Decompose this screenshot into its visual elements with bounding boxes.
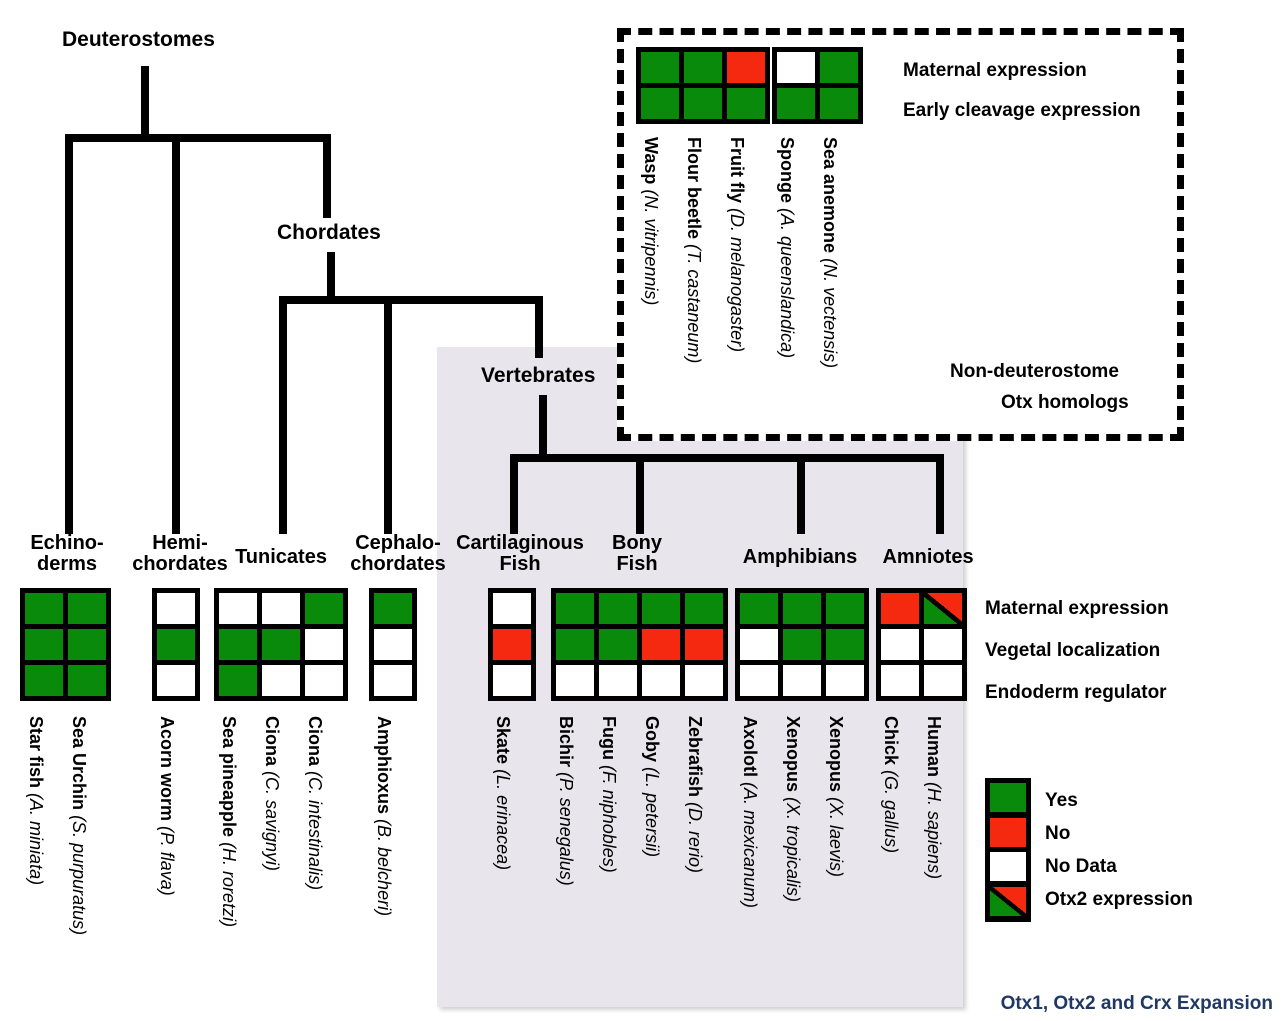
tree-line-cephalochordates bbox=[384, 296, 392, 534]
clade-label-vertebrates: Vertebrates bbox=[481, 364, 595, 388]
expression-grid-hemichordates bbox=[152, 588, 200, 701]
tree-line-cartilaginous-fish bbox=[510, 454, 518, 534]
expression-cell bbox=[157, 593, 195, 624]
clade-label-chordates: Chordates bbox=[277, 221, 381, 245]
dashed-box-title-line2: Otx homologs bbox=[1001, 392, 1129, 414]
expression-grid-bony-fish bbox=[551, 588, 728, 701]
expression-cell bbox=[305, 629, 343, 660]
group-label-amphibians: Amphibians bbox=[726, 547, 874, 568]
expression-cell bbox=[262, 629, 300, 660]
tree-line-vertebrates-stem bbox=[539, 395, 547, 458]
expression-cell bbox=[777, 52, 815, 83]
species-label-sponge: Sponge (A. queenslandica) bbox=[776, 137, 797, 358]
species-label-skate: Skate (L. erinacea) bbox=[492, 716, 513, 870]
tree-line-bony-fish bbox=[636, 454, 644, 534]
expression-cell bbox=[599, 665, 637, 696]
expression-grid-amniotes bbox=[876, 588, 967, 701]
expression-cell bbox=[556, 665, 594, 696]
expression-cell bbox=[68, 629, 106, 660]
species-label-chick: Chick (G. gallus) bbox=[880, 716, 901, 853]
expression-cell bbox=[25, 665, 63, 696]
legend-key-label: Otx2 expression bbox=[1045, 883, 1193, 916]
expression-cell bbox=[262, 593, 300, 624]
expression-cell bbox=[924, 665, 962, 696]
expression-cell bbox=[740, 629, 778, 660]
expression-grid-cephalochordates bbox=[369, 588, 417, 701]
legend-swatch-yes bbox=[990, 783, 1026, 812]
group-label-bony-fish: Bony Fish bbox=[593, 533, 681, 575]
tree-line-chordates-bar bbox=[279, 296, 543, 304]
legend-swatch-split bbox=[990, 887, 1026, 916]
species-label-star-fish: Star fish (A. miniata) bbox=[25, 716, 46, 885]
tree-line-amphibians bbox=[797, 454, 805, 534]
species-label-acorn-worm: Acorn worm (P. flava) bbox=[156, 716, 177, 896]
legend-key-label-column: YesNoNo DataOtx2 expression bbox=[1045, 778, 1193, 922]
tree-line-chordates-stem bbox=[327, 252, 335, 300]
expression-cell bbox=[783, 629, 821, 660]
dashed-box-title-line1: Non-deuterostome bbox=[950, 361, 1119, 383]
expression-grid-tunicates bbox=[214, 588, 348, 701]
expression-cell bbox=[219, 593, 257, 624]
expression-cell bbox=[493, 593, 531, 624]
dashed-row-label-early-cleavage: Early cleavage expression bbox=[903, 100, 1141, 122]
expression-cell bbox=[599, 629, 637, 660]
expression-cell bbox=[68, 665, 106, 696]
expression-cell bbox=[157, 629, 195, 660]
legend-key-label: No Data bbox=[1045, 850, 1193, 883]
expression-cell bbox=[820, 52, 858, 83]
tree-line-to-chordates bbox=[323, 134, 331, 218]
expression-cell bbox=[924, 629, 962, 660]
expression-cell bbox=[374, 665, 412, 696]
expression-cell bbox=[783, 593, 821, 624]
expression-cell bbox=[262, 665, 300, 696]
expression-cell bbox=[684, 88, 722, 119]
species-label-ciona-intestinalis: Ciona (C. intestinalis) bbox=[304, 716, 325, 890]
phylogeny-figure: Deuterostomes Chordates Vertebrates Mate… bbox=[0, 0, 1283, 1021]
expression-cell bbox=[740, 593, 778, 624]
expression-cell bbox=[556, 629, 594, 660]
legend-key: YesNoNo DataOtx2 expression bbox=[985, 778, 1193, 922]
expression-cell bbox=[642, 629, 680, 660]
dashed-row-label-maternal: Maternal expression bbox=[903, 60, 1087, 82]
expression-cell bbox=[374, 629, 412, 660]
expression-cell bbox=[783, 665, 821, 696]
expression-cell bbox=[727, 88, 765, 119]
expression-cell bbox=[642, 593, 680, 624]
expression-cell bbox=[684, 52, 722, 83]
species-label-axolotl: Axolotl (A. mexicanum) bbox=[739, 716, 760, 908]
species-label-flour-beetle: Flour beetle (T. castaneum) bbox=[683, 137, 704, 363]
expression-cell bbox=[777, 88, 815, 119]
expression-cell bbox=[826, 629, 864, 660]
expression-grid-cartilaginous-fish bbox=[488, 588, 536, 701]
expression-cell bbox=[881, 665, 919, 696]
expression-cell bbox=[685, 665, 723, 696]
expression-cell bbox=[219, 629, 257, 660]
expression-grid-echinoderms bbox=[20, 588, 111, 701]
group-label-amniotes: Amniotes bbox=[872, 547, 984, 568]
legend-row-labels: Maternal expression Vegetal localization… bbox=[985, 598, 1169, 724]
species-label-zebrafish: Zebrafish (D. rerio) bbox=[684, 716, 705, 873]
expression-cell bbox=[305, 665, 343, 696]
species-label-fruit-fly: Fruit fly (D. melanogaster) bbox=[726, 137, 747, 352]
expression-cell bbox=[493, 629, 531, 660]
expression-cell bbox=[374, 593, 412, 624]
legend-key-label: Yes bbox=[1045, 784, 1193, 817]
group-label-echinoderms: Echino- derms bbox=[13, 533, 121, 575]
tree-line-deuterostomes-stem bbox=[141, 66, 149, 138]
group-label-cephalochordates: Cephalo- chordates bbox=[340, 533, 456, 575]
expression-cell bbox=[924, 593, 962, 624]
species-label-sea-anemone: Sea anemone (N. vectensis) bbox=[819, 137, 840, 368]
expression-cell bbox=[305, 593, 343, 624]
tree-line-vertebrates-bar bbox=[510, 454, 944, 462]
species-label-ciona-savignyi: Ciona (C. savignyi) bbox=[261, 716, 282, 871]
expression-cell bbox=[556, 593, 594, 624]
legend-label-maternal: Maternal expression bbox=[985, 598, 1169, 620]
legend-key-label: No bbox=[1045, 817, 1193, 850]
expression-cell bbox=[599, 593, 637, 624]
tree-line-tunicates bbox=[279, 296, 287, 534]
species-label-fugu: Fugu (F. niphobles) bbox=[598, 716, 619, 873]
legend-swatch-column bbox=[985, 778, 1031, 922]
expression-cell bbox=[642, 665, 680, 696]
species-label-xenopus-tropicalis: Xenopus (X. tropicalis) bbox=[782, 716, 803, 902]
expression-cell bbox=[881, 629, 919, 660]
group-label-hemichordates: Hemi- chordates bbox=[126, 533, 234, 575]
expression-cell bbox=[25, 593, 63, 624]
group-label-tunicates: Tunicates bbox=[222, 547, 340, 568]
expression-cell bbox=[820, 88, 858, 119]
expression-cell bbox=[219, 665, 257, 696]
species-label-amphioxus: Amphioxus (B. belcheri) bbox=[373, 716, 394, 916]
expression-cell bbox=[641, 88, 679, 119]
tree-line-deuterostomes-bar bbox=[65, 134, 331, 142]
expression-cell bbox=[68, 593, 106, 624]
tree-line-amniotes bbox=[936, 454, 944, 534]
tree-line-hemichordates bbox=[172, 134, 180, 534]
clade-label-deuterostomes: Deuterostomes bbox=[62, 28, 215, 52]
species-label-bichir: Bichir (P. senegalus) bbox=[555, 716, 576, 886]
expression-cell bbox=[25, 629, 63, 660]
legend-label-endoderm: Endoderm regulator bbox=[985, 682, 1169, 704]
expression-cell bbox=[157, 665, 195, 696]
species-label-goby: Goby (L. petersii) bbox=[641, 716, 662, 857]
species-label-xenopus-laevis: Xenopus (X. laevis) bbox=[825, 716, 846, 877]
species-label-sea-pineapple: Sea pineapple (H. roretzi) bbox=[218, 716, 239, 927]
expression-grid-basal-metazoans bbox=[772, 47, 863, 124]
vertebrate-panel-caption: Otx1, Otx2 and Crx Expansion bbox=[1001, 993, 1273, 1015]
expression-cell bbox=[740, 665, 778, 696]
expression-grid-amphibians bbox=[735, 588, 869, 701]
species-label-human: Human (H. sapiens) bbox=[923, 716, 944, 879]
tree-line-echinoderms bbox=[65, 134, 73, 534]
expression-cell bbox=[641, 52, 679, 83]
group-label-cartilaginous-fish: Cartilaginous Fish bbox=[452, 533, 588, 575]
expression-cell bbox=[826, 665, 864, 696]
species-label-wasp: Wasp (N. vitripennis) bbox=[640, 137, 661, 305]
expression-grid-protostomes bbox=[636, 47, 770, 124]
tree-line-to-vertebrates bbox=[535, 296, 543, 358]
expression-cell bbox=[685, 593, 723, 624]
expression-cell bbox=[881, 593, 919, 624]
legend-swatch-no bbox=[990, 818, 1026, 847]
legend-label-vegetal: Vegetal localization bbox=[985, 640, 1169, 662]
expression-cell bbox=[727, 52, 765, 83]
legend-swatch-nodata bbox=[990, 852, 1026, 881]
expression-cell bbox=[685, 629, 723, 660]
expression-cell bbox=[826, 593, 864, 624]
expression-cell bbox=[493, 665, 531, 696]
species-label-sea-urchin: Sea Urchin (S. purpuratus) bbox=[68, 716, 89, 935]
